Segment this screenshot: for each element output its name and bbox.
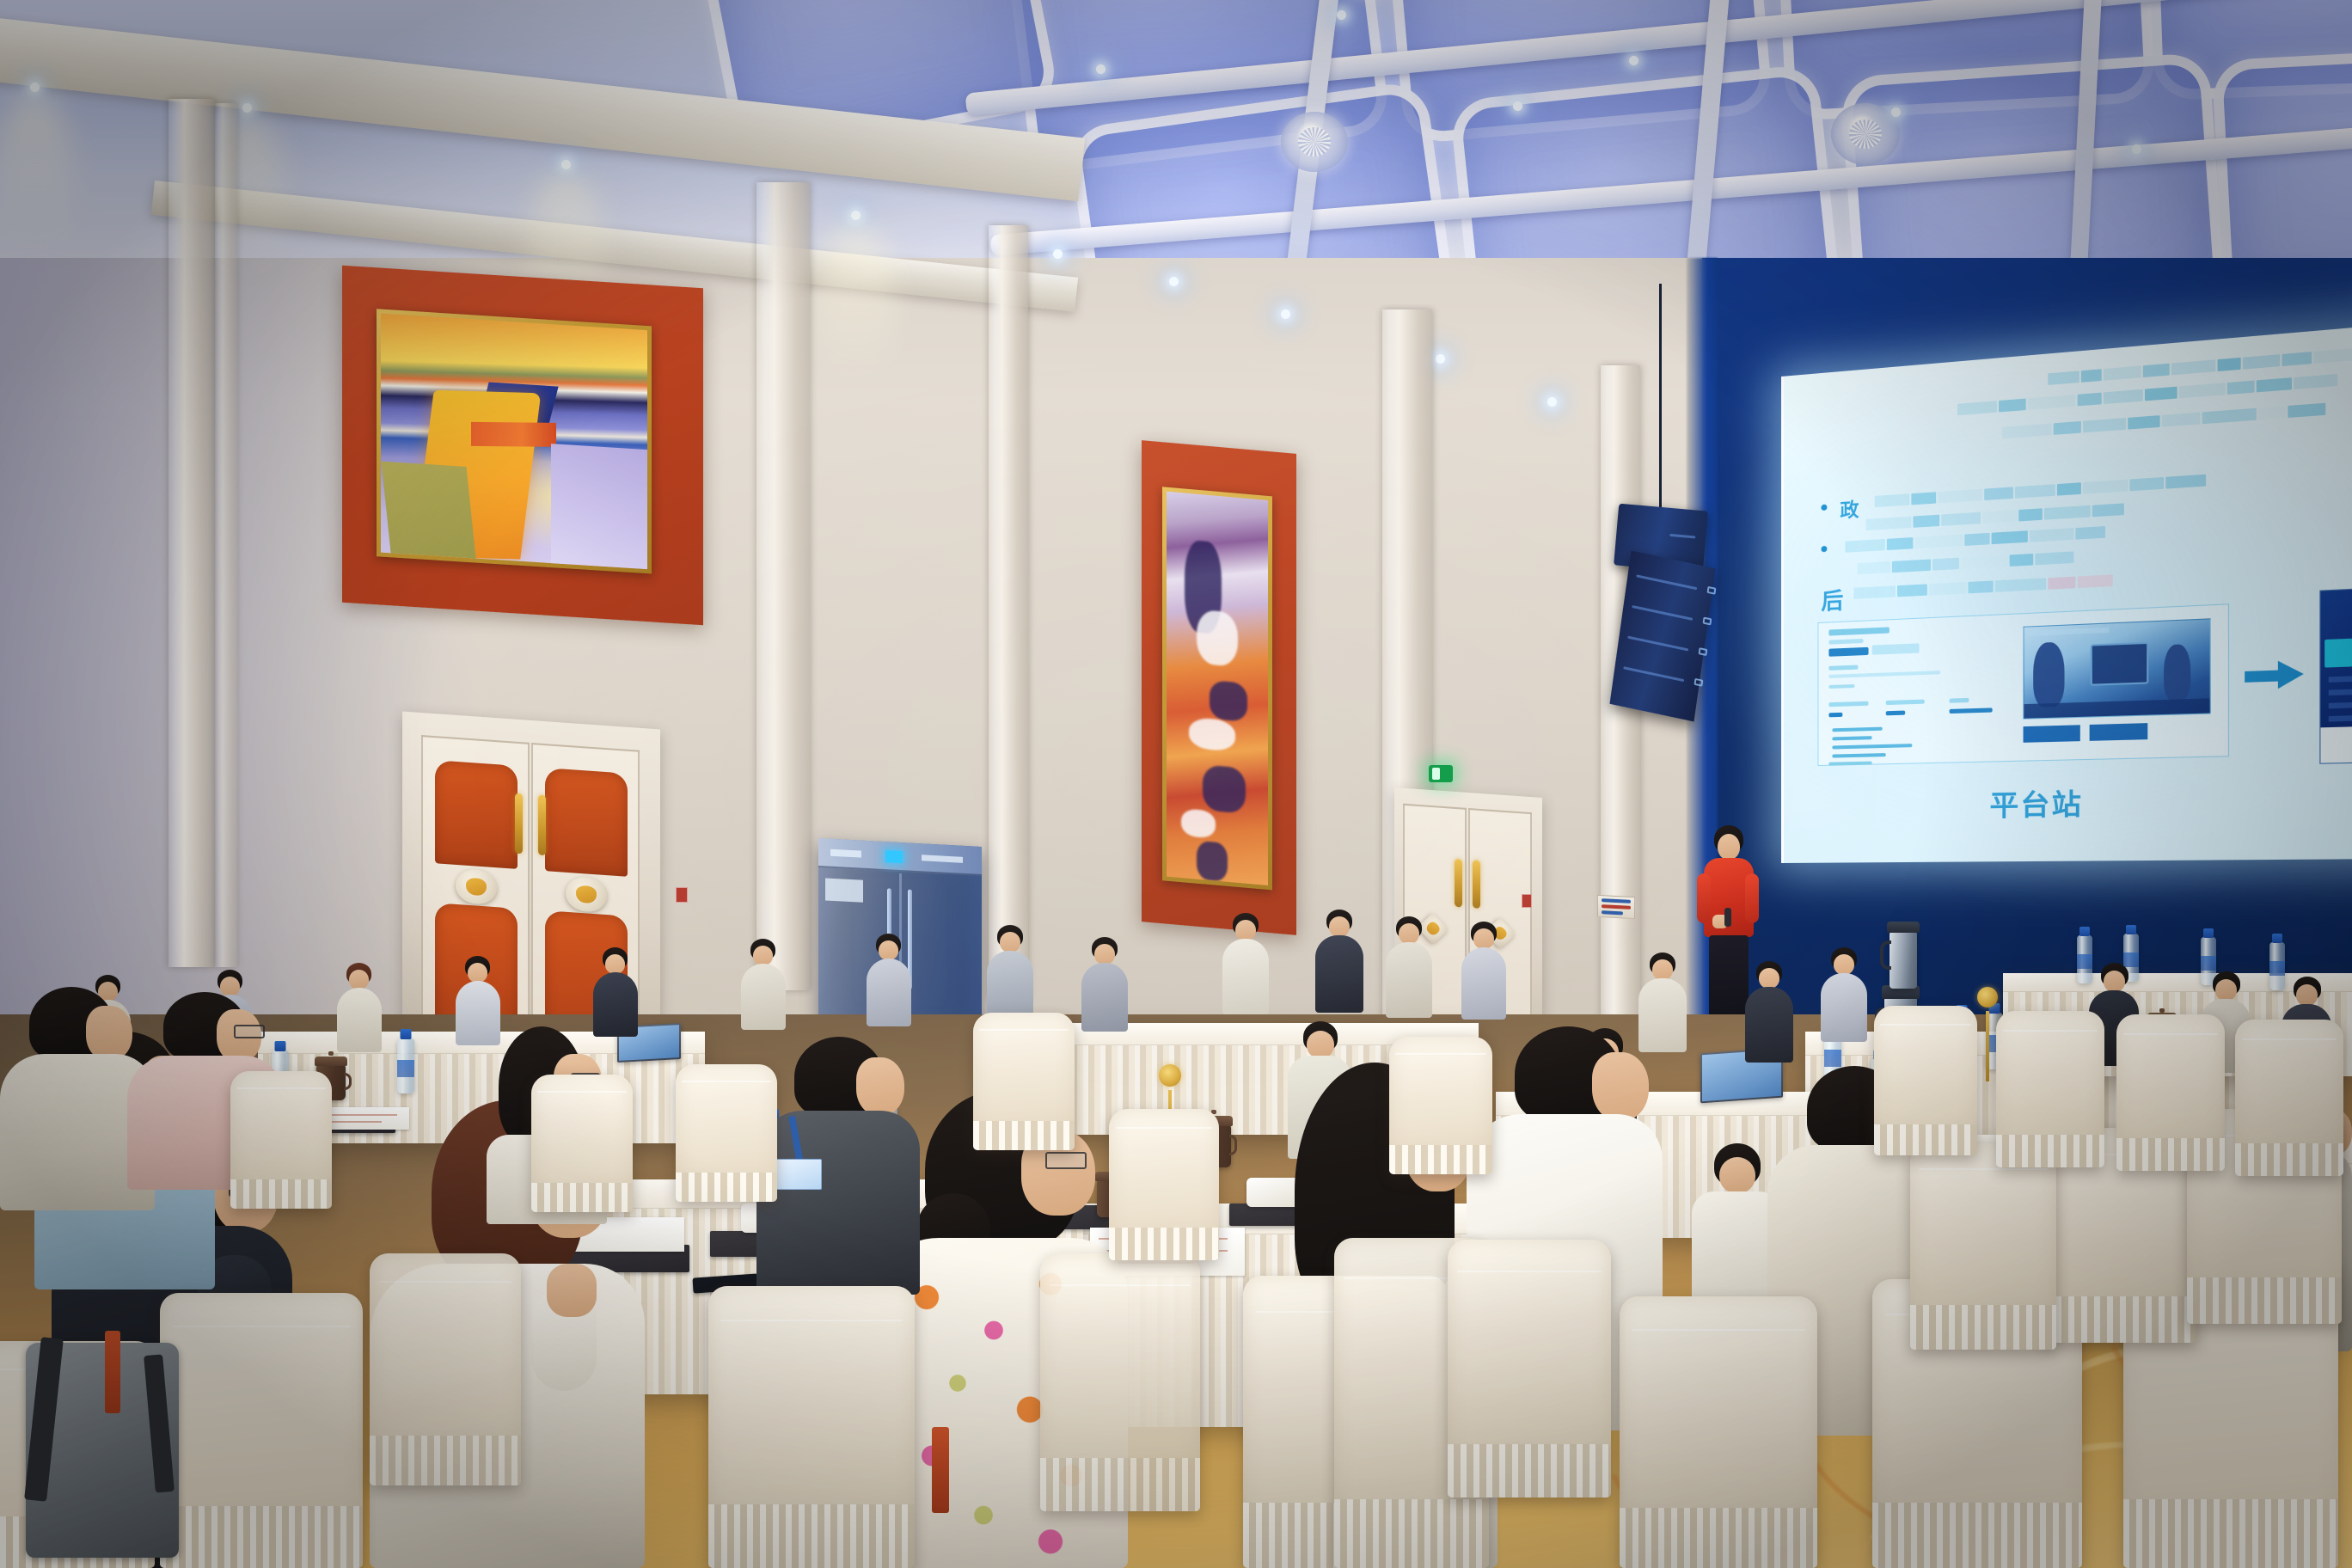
card-heading-line [1828,627,1889,635]
audience-member [987,925,1033,1020]
wall-pilaster [989,225,1028,999]
banquet-chair [2116,1014,2225,1171]
card-tag-badge [1828,647,1868,657]
light-spill [817,219,894,383]
card-body-line [1828,665,1858,671]
table-number-stand [1977,987,1998,1081]
wall-pilaster [168,99,215,967]
card-stat-label [1886,700,1925,706]
card-primary-button[interactable] [2024,725,2080,743]
presenter-microphone [1724,908,1731,927]
banquet-chair [370,1253,521,1485]
audience-member-with-badge [756,1037,920,1295]
name-badge [775,1159,822,1190]
backpack-on-chair [26,1343,179,1558]
slide-section-mosaic [1853,570,2200,599]
door-medallion [456,868,497,905]
fire-alarm-box [1522,894,1532,908]
fridge-brand-label [830,849,861,858]
card-tag-mosaic [1872,643,1920,654]
thermos-carafe [1890,930,1917,989]
speaker-suspension-wire [1659,284,1662,509]
card-secondary-button[interactable] [2090,723,2148,741]
mobile-app-screenshot [2319,585,2352,763]
banquet-chair [973,1013,1075,1150]
banquet-chair [676,1064,777,1202]
presenter-head [1718,834,1740,860]
banquet-chair [160,1293,363,1568]
audience-member [1821,947,1867,1042]
door-red-panel [545,768,628,877]
plain-door-handle[interactable] [1473,860,1480,909]
coffered-ceiling [0,0,2352,284]
backpack-strap [24,1337,64,1502]
card-bullet-item [1832,736,1871,740]
plain-door-handle[interactable] [1455,859,1462,908]
flow-arrow-right [2245,660,2304,690]
card-stat-value [1828,713,1842,718]
ceiling-rosette [1831,103,1900,165]
app-list-rows [2329,673,2352,725]
door-handle[interactable] [515,793,523,854]
fridge-model-label [922,854,963,863]
audience-member [593,947,638,1037]
card-sub-line [1828,639,1863,645]
slide-caption-platform-station: 平台站 [1990,781,2084,824]
slide-section-label: 后 [1821,583,1845,616]
ceiling-downlight [2132,144,2141,154]
torso [756,1111,920,1295]
door-medallion [566,876,607,913]
emergency-exit-sign [1429,765,1453,782]
wall-downlight [1547,397,1557,407]
slide-bullet-marker [1821,546,1827,552]
banquet-chair [1109,1109,1219,1260]
wall-information-sign [1597,895,1635,919]
audience-member [337,963,382,1052]
presenter-arm-right [1745,873,1759,923]
wall-downlight [1436,354,1445,364]
banquet-chair [1874,1006,1977,1155]
water-bottle [397,1038,414,1093]
art-panel-vertical [1142,440,1296,935]
banquet-chair [1910,1143,2056,1350]
card-stat-label [1950,698,1969,703]
banquet-chair [1040,1253,1200,1511]
head [856,1057,904,1116]
slide-content-card [1817,603,2229,766]
fridge-warning-sticker [825,878,863,902]
banquet-chair [230,1071,332,1209]
head [1592,1052,1649,1121]
backpack-strap [144,1354,175,1492]
red-folder-on-chair [932,1427,949,1513]
ceiling-downlight [1337,10,1346,20]
audience-member [1386,916,1432,1018]
slide-bullet-marker [1821,505,1827,511]
ceiling-downlight [1096,64,1106,74]
banquet-chair [708,1286,915,1568]
ceiling-rosette [1281,112,1348,172]
light-spill [0,90,73,254]
banquet-chair [1996,1011,2104,1167]
audience-member [867,934,911,1026]
card-thumbnail-image [2024,618,2211,720]
card-stat-value [1950,707,1993,714]
card-bullet-item [1832,744,1912,749]
card-stat-value [1886,711,1905,716]
door-handle[interactable] [538,795,546,856]
wall-downlight [1281,309,1290,319]
wall-pilaster [215,103,237,967]
door-red-panel [435,760,518,869]
eyeglasses [1045,1152,1087,1169]
card-bullet-item [1832,753,1885,758]
audience-member [1745,961,1793,1063]
wall-downlight [1053,249,1063,259]
hand [547,1264,597,1317]
banquet-chair [2235,1020,2343,1176]
card-body-line [1828,684,1854,689]
card-bullet-item [1828,762,1871,766]
ceiling-downlight [1891,107,1901,117]
banquet-chair [1448,1240,1611,1498]
banquet-chair [1620,1296,1817,1568]
card-stat-label [1828,701,1868,707]
wall-downlight [1169,277,1179,286]
card-bullet-item [1832,727,1882,732]
ceiling-downlight [1629,56,1638,65]
audience-member [1081,937,1128,1032]
art-panel-horizontal [342,266,703,625]
painting-abstract-figure [1167,492,1268,885]
app-badge-cyan [2324,639,2352,668]
painting-abstract-landscape [381,314,647,570]
eyeglasses [234,1025,265,1038]
head [86,1006,132,1061]
fridge-led-indicator [885,850,903,863]
app-bottom-panel [2320,725,2352,763]
audience-member [1461,922,1506,1020]
banquet-chair [1389,1037,1492,1174]
audience-member [741,939,786,1030]
ceiling-downlight [1513,101,1522,111]
card-body-line [1828,671,1940,678]
wall-pilaster [756,182,810,990]
projection-screen: 政 [1781,323,2352,863]
conference-hall-photo: 政 [0,0,2352,1568]
red-folder-on-chair [105,1331,120,1413]
presenter-arm-left [1697,873,1711,923]
audience-member [1315,910,1363,1013]
banquet-chair [531,1075,633,1212]
fire-alarm-box [676,887,688,903]
audience-member [1222,913,1269,1014]
slide-label-partial: 政 [1840,494,1860,524]
